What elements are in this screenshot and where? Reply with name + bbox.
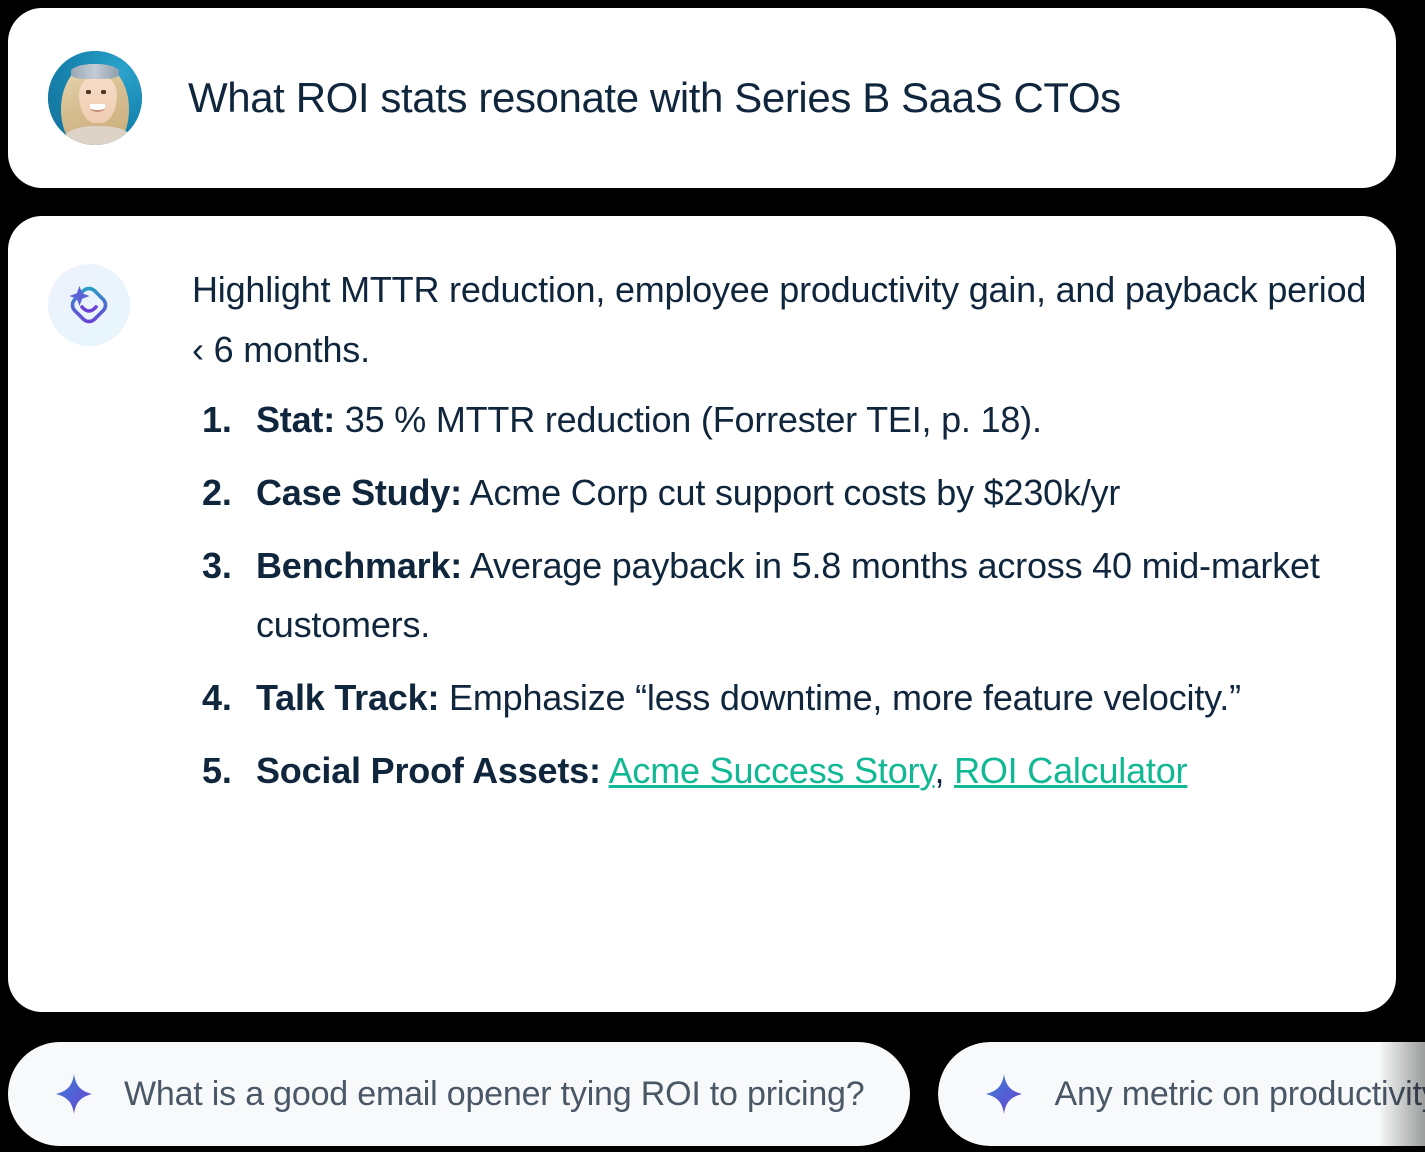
list-item-label: Talk Track: xyxy=(256,677,439,718)
link-acme-success-story[interactable]: Acme Success Story xyxy=(609,750,935,791)
link-separator: , xyxy=(934,750,954,791)
suggested-prompt-productivity-metric[interactable]: Any metric on productivity? xyxy=(938,1042,1425,1146)
sparkle-icon xyxy=(984,1072,1024,1116)
suggested-prompts-row: What is a good email opener tying ROI to… xyxy=(8,1042,1425,1146)
suggested-prompt-email-opener[interactable]: What is a good email opener tying ROI to… xyxy=(8,1042,910,1146)
assistant-avatar xyxy=(48,264,130,346)
ai-sparkle-chat-icon xyxy=(62,278,116,332)
list-item: Stat: 35 % MTTR reduction (Forrester TEI… xyxy=(192,390,1378,449)
list-item-text: Acme Corp cut support costs by $230k/yr xyxy=(462,472,1120,513)
chat-conversation-panel: What ROI stats resonate with Series B Sa… xyxy=(0,0,1425,1152)
list-item-text: Emphasize “less downtime, more feature v… xyxy=(439,677,1241,718)
user-message-card: What ROI stats resonate with Series B Sa… xyxy=(8,8,1396,188)
avatar xyxy=(48,51,142,145)
assistant-lead-text: Highlight MTTR reduction, employee produ… xyxy=(192,260,1378,380)
suggested-prompt-label: Any metric on productivity? xyxy=(1054,1075,1425,1114)
assistant-points-list: Stat: 35 % MTTR reduction (Forrester TEI… xyxy=(192,390,1378,800)
list-item-label: Benchmark: xyxy=(256,545,462,586)
list-item: Talk Track: Emphasize “less downtime, mo… xyxy=(192,668,1378,727)
assistant-answer-body: Highlight MTTR reduction, employee produ… xyxy=(192,260,1388,814)
suggested-prompt-label: What is a good email opener tying ROI to… xyxy=(124,1075,864,1114)
list-item-text xyxy=(601,750,609,791)
user-message-text: What ROI stats resonate with Series B Sa… xyxy=(188,73,1121,123)
list-item-text: 35 % MTTR reduction (Forrester TEI, p. 1… xyxy=(335,399,1042,440)
sparkle-icon xyxy=(54,1072,94,1116)
list-item-label: Case Study: xyxy=(256,472,462,513)
list-item-label: Stat: xyxy=(256,399,335,440)
list-item: Case Study: Acme Corp cut support costs … xyxy=(192,463,1378,522)
list-item-label: Social Proof Assets: xyxy=(256,750,601,791)
list-item: Benchmark: Average payback in 5.8 months… xyxy=(192,536,1378,654)
assistant-message-card: Highlight MTTR reduction, employee produ… xyxy=(8,216,1396,1012)
list-item: Social Proof Assets: Acme Success Story,… xyxy=(192,741,1378,800)
link-roi-calculator[interactable]: ROI Calculator xyxy=(954,750,1187,791)
